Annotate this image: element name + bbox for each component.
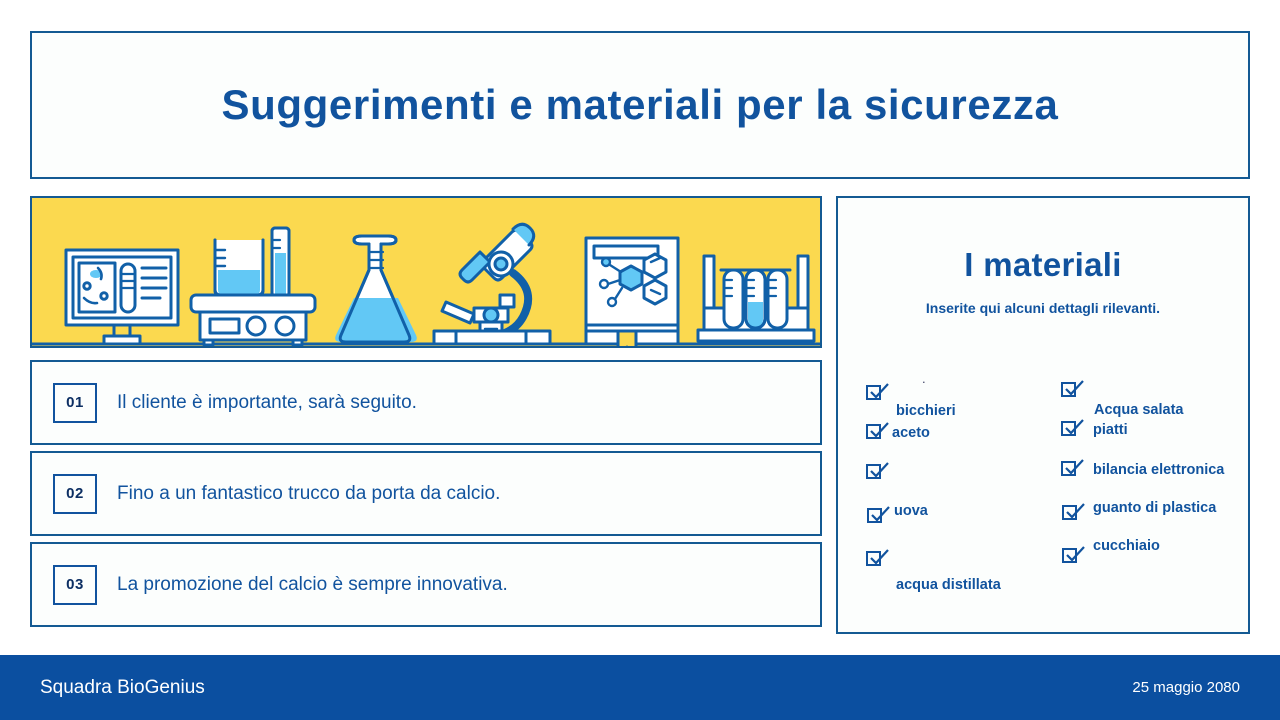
checklist-label: guanto di plastica — [1093, 500, 1216, 516]
checklist-label: bicchieri — [896, 403, 956, 419]
materials-right-column: Acqua salata piatti bilancia elettronica… — [1061, 382, 1271, 581]
numbered-list: 01 Il cliente è importante, sarà seguito… — [30, 360, 822, 627]
lab-illustration-banner — [30, 196, 822, 348]
list-item[interactable]: 01 Il cliente è importante, sarà seguito… — [30, 360, 822, 445]
checkbox-checked-icon[interactable] — [1061, 382, 1076, 397]
footer-date: 25 maggio 2080 — [1132, 679, 1240, 696]
checkbox-checked-icon[interactable] — [1062, 505, 1077, 520]
checklist-label: Acqua salata — [1094, 402, 1183, 418]
panel-subtitle: Inserite qui alcuni dettagli rilevanti. — [838, 300, 1248, 316]
checklist-item[interactable]: cucchiaio — [1061, 541, 1271, 581]
checklist-label: acqua distillata — [896, 577, 1001, 593]
item-number-badge: 03 — [53, 565, 97, 605]
checklist-label: uova — [894, 503, 928, 519]
checklist-item[interactable]: guanto di plastica — [1061, 501, 1271, 541]
lab-illustration-svg — [32, 198, 820, 346]
title-card: Suggerimenti e materiali per la sicurezz… — [30, 31, 1250, 179]
item-text: Il cliente è importante, sarà seguito. — [117, 392, 417, 414]
list-item[interactable]: 03 La promozione del calcio è sempre inn… — [30, 542, 822, 627]
item-number-badge: 02 — [53, 474, 97, 514]
checklist-label: cucchiaio — [1093, 538, 1160, 554]
slide-root: Suggerimenti e materiali per la sicurezz… — [0, 0, 1280, 720]
checkbox-checked-icon[interactable] — [1061, 461, 1076, 476]
item-number-badge: 01 — [53, 383, 97, 423]
checklist-item[interactable]: piatti — [1061, 421, 1271, 461]
checkbox-checked-icon[interactable] — [1061, 421, 1076, 436]
checklist-label: piatti — [1093, 422, 1128, 438]
hotplate-beaker-icon — [191, 228, 315, 345]
footer-team-name: Squadra BioGenius — [40, 677, 205, 699]
checkbox-checked-icon[interactable] — [866, 424, 881, 439]
list-item[interactable]: 02 Fino a un fantastico trucco da porta … — [30, 451, 822, 536]
microscope-icon — [434, 224, 550, 344]
checklist-item[interactable]: acqua distillata — [866, 544, 1056, 590]
checkbox-checked-icon[interactable] — [866, 551, 881, 566]
monitor-microscope-slide-icon — [66, 250, 178, 344]
page-title: Suggerimenti e materiali per la sicurezz… — [222, 81, 1059, 129]
test-tube-rack-icon — [698, 256, 814, 341]
stray-period-mark: . — [922, 372, 926, 385]
checklist-item[interactable]: bilancia elettronica — [1061, 461, 1271, 501]
checklist-item[interactable]: Acqua salata — [1061, 382, 1271, 421]
erlenmeyer-flask-icon — [335, 236, 417, 342]
checkbox-checked-icon[interactable] — [867, 508, 882, 523]
checkbox-checked-icon[interactable] — [866, 464, 881, 479]
item-text: La promozione del calcio è sempre innova… — [117, 574, 508, 596]
checklist-label: bilancia elettronica — [1093, 462, 1224, 478]
materials-left-column: bicchieri aceto uova acqua distillata — [866, 385, 1056, 590]
footer-bar: Squadra BioGenius 25 maggio 2080 — [0, 655, 1280, 720]
checklist-label: aceto — [892, 425, 930, 441]
checklist-item[interactable] — [866, 464, 1056, 504]
checkbox-checked-icon[interactable] — [866, 385, 881, 400]
item-text: Fino a un fantastico trucco da porta da … — [117, 483, 500, 505]
checklist-item[interactable]: bicchieri — [866, 385, 1056, 424]
panel-title: I materiali — [838, 246, 1248, 284]
molecule-book-icon — [586, 238, 678, 346]
checkbox-checked-icon[interactable] — [1062, 548, 1077, 563]
checklist-item[interactable]: aceto — [866, 424, 1056, 464]
checklist-item[interactable]: uova — [866, 504, 1056, 544]
